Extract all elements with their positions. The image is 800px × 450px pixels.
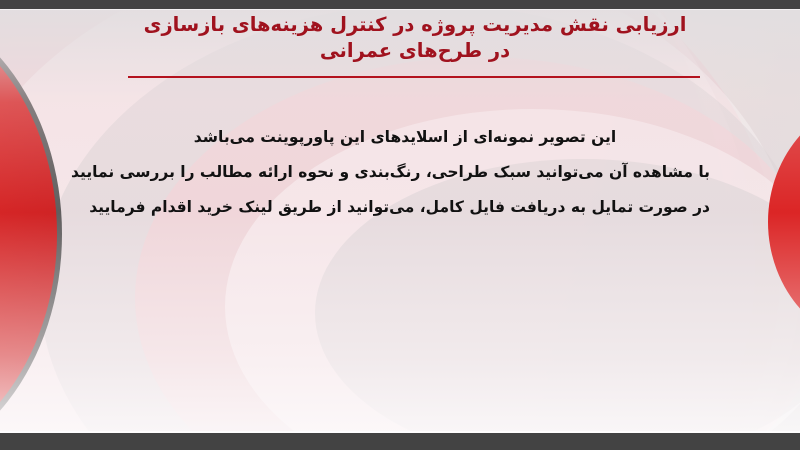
presentation-slide: ارزیابی نقش مدیریت پروژه در کنترل هزینه‌…	[0, 0, 800, 450]
background-band-7	[135, 57, 800, 433]
body-line-3: در صورت تمایل به دریافت فایل کامل، می‌تو…	[100, 190, 710, 225]
frame-bottom-hairline	[0, 431, 800, 433]
frame-top-bar	[0, 0, 800, 9]
title-line-1: ارزیابی نقش مدیریت پروژه در کنترل هزینه‌…	[120, 12, 710, 38]
slide-title: ارزیابی نقش مدیریت پروژه در کنترل هزینه‌…	[120, 12, 710, 64]
title-divider-rule	[128, 76, 700, 78]
slide-body-text: این تصویر نمونه‌ای از اسلایدهای این پاور…	[100, 120, 710, 225]
body-line-1: این تصویر نمونه‌ای از اسلایدهای این پاور…	[100, 120, 710, 155]
title-line-2: در طرح‌های عمرانی	[120, 38, 710, 64]
right-red-ellipse-shape	[768, 97, 800, 347]
frame-top-hairline	[0, 9, 800, 10]
frame-bottom-bar	[0, 433, 800, 450]
body-line-2: با مشاهده آن می‌توانید سبک طراحی، رنگ‌بن…	[100, 155, 710, 190]
